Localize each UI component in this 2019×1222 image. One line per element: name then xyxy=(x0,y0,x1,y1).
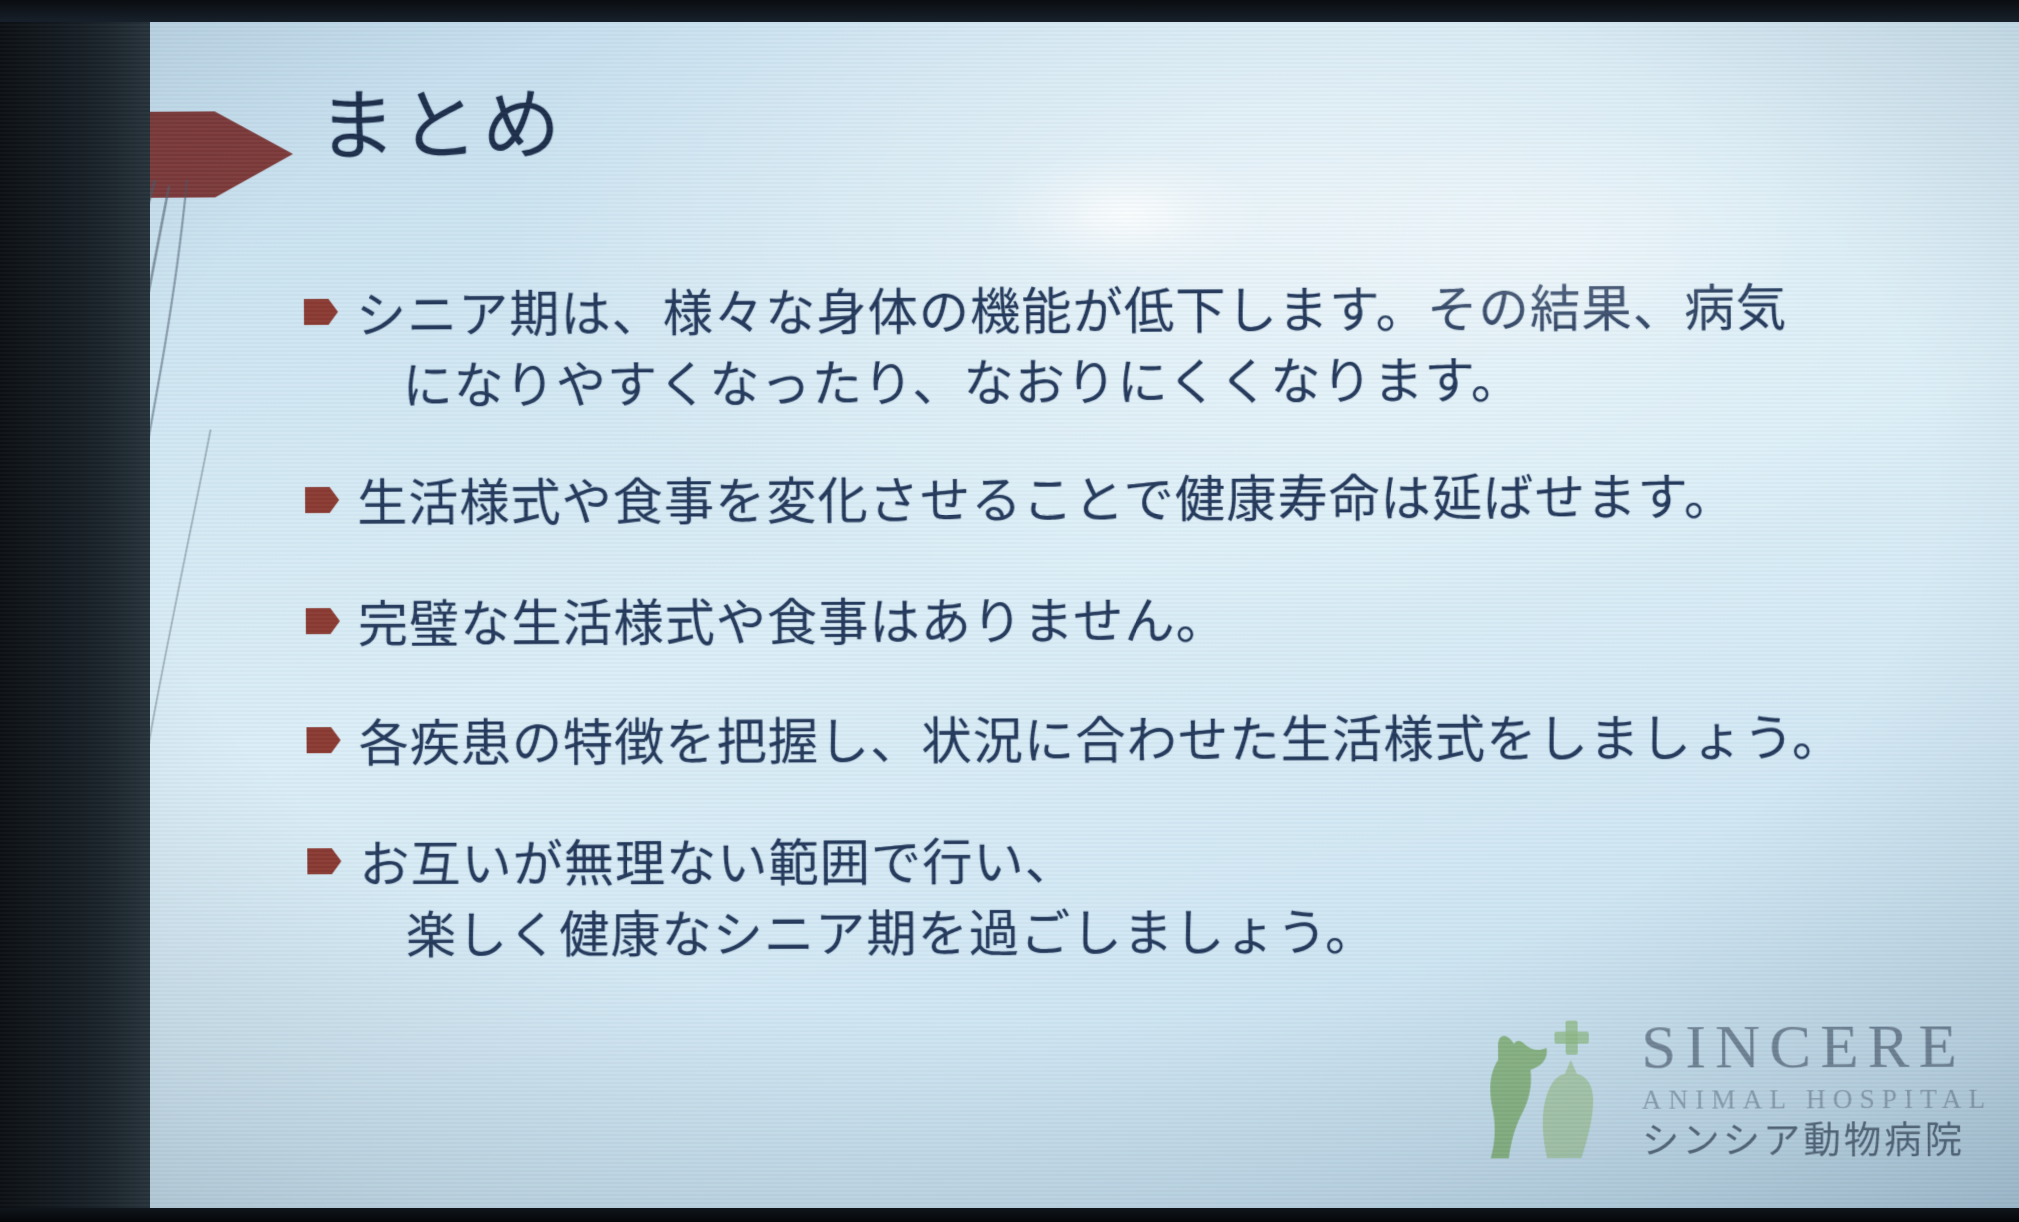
clinic-logo: SINCERE ANIMAL HOSPITAL シンシア動物病院 xyxy=(1476,1014,1993,1166)
screen-bezel-bottom xyxy=(0,1208,2019,1222)
bullet-line-primary: 生活様式や食事を変化させることで健康寿命は延ばせます。 xyxy=(357,469,1736,532)
bullet-line-primary: 完璧な生活様式や食事はありません。 xyxy=(358,593,1227,653)
slide-title: まとめ xyxy=(318,85,565,168)
logo-japanese-name: シンシア動物病院 xyxy=(1642,1119,1966,1164)
list-item: 生活様式や食事を変化させることで健康寿命は延ばせます。 xyxy=(305,461,2016,540)
bullet-text: 完璧な生活様式や食事はありません。 xyxy=(358,586,1227,661)
list-item: お互いが無理ない範囲で行い、 楽しく健康なシニア期を過ごしましょう。 xyxy=(307,824,2019,972)
projector-hotspot xyxy=(995,154,1257,276)
arrow-bullet-icon xyxy=(306,727,340,753)
bullet-text: シニア期は、様々な身体の機能が低下します。その結果、病気 になりやすくなったり、… xyxy=(356,273,1788,423)
bullet-line-continued: になりやすくなったり、なおりにくくなります。 xyxy=(356,345,1788,423)
projected-slide-photo: まとめ シニア期は、様々な身体の機能が低下します。その結果、病気 になりやすくな… xyxy=(0,0,2019,1222)
bullet-text: お互いが無理ない範囲で行い、 楽しく健康なシニア期を過ごしましょう。 xyxy=(359,826,1376,972)
list-item: 完璧な生活様式や食事はありません。 xyxy=(306,583,2017,661)
logo-subtitle: ANIMAL HOSPITAL xyxy=(1641,1082,1992,1118)
arrow-bullet-icon xyxy=(307,848,341,874)
list-item: シニア期は、様々な身体の機能が低下します。その結果、病気 になりやすくなったり、… xyxy=(304,272,2016,423)
slide-surface: まとめ シニア期は、様々な身体の機能が低下します。その結果、病気 になりやすくな… xyxy=(112,0,2019,1216)
arrow-bullet-icon xyxy=(306,608,340,634)
bullet-text: 各疾患の特徴を把握し、状況に合わせた生活様式をしましょう。 xyxy=(358,703,1843,780)
screen-bezel-top xyxy=(0,0,2019,22)
bullet-text: 生活様式や食事を変化させることで健康寿命は延ばせます。 xyxy=(357,462,1736,540)
logo-text-block: SINCERE ANIMAL HOSPITAL シンシア動物病院 xyxy=(1641,1016,1993,1165)
logo-name: SINCERE xyxy=(1641,1016,1966,1079)
screen-bezel-left xyxy=(0,0,150,1222)
bullet-line-primary: お互いが無理ない範囲で行い、 xyxy=(359,835,1076,894)
arrow-bullet-icon xyxy=(305,487,339,513)
arrow-bullet-icon xyxy=(304,299,338,325)
dog-cat-cross-icon xyxy=(1476,1015,1628,1166)
bullet-list: シニア期は、様々な身体の機能が低下します。その結果、病気 になりやすくなったり、… xyxy=(304,272,2019,972)
bullet-line-primary: 各疾患の特徴を把握し、状況に合わせた生活様式をしましょう。 xyxy=(358,710,1843,772)
bullet-line-primary: シニア期は、様々な身体の機能が低下します。その結果、病気 xyxy=(356,280,1788,344)
bullet-line-continued: 楽しく健康なシニア期を過ごしましょう。 xyxy=(360,898,1377,973)
list-item: 各疾患の特徴を把握し、状況に合わせた生活様式をしましょう。 xyxy=(306,702,2017,780)
